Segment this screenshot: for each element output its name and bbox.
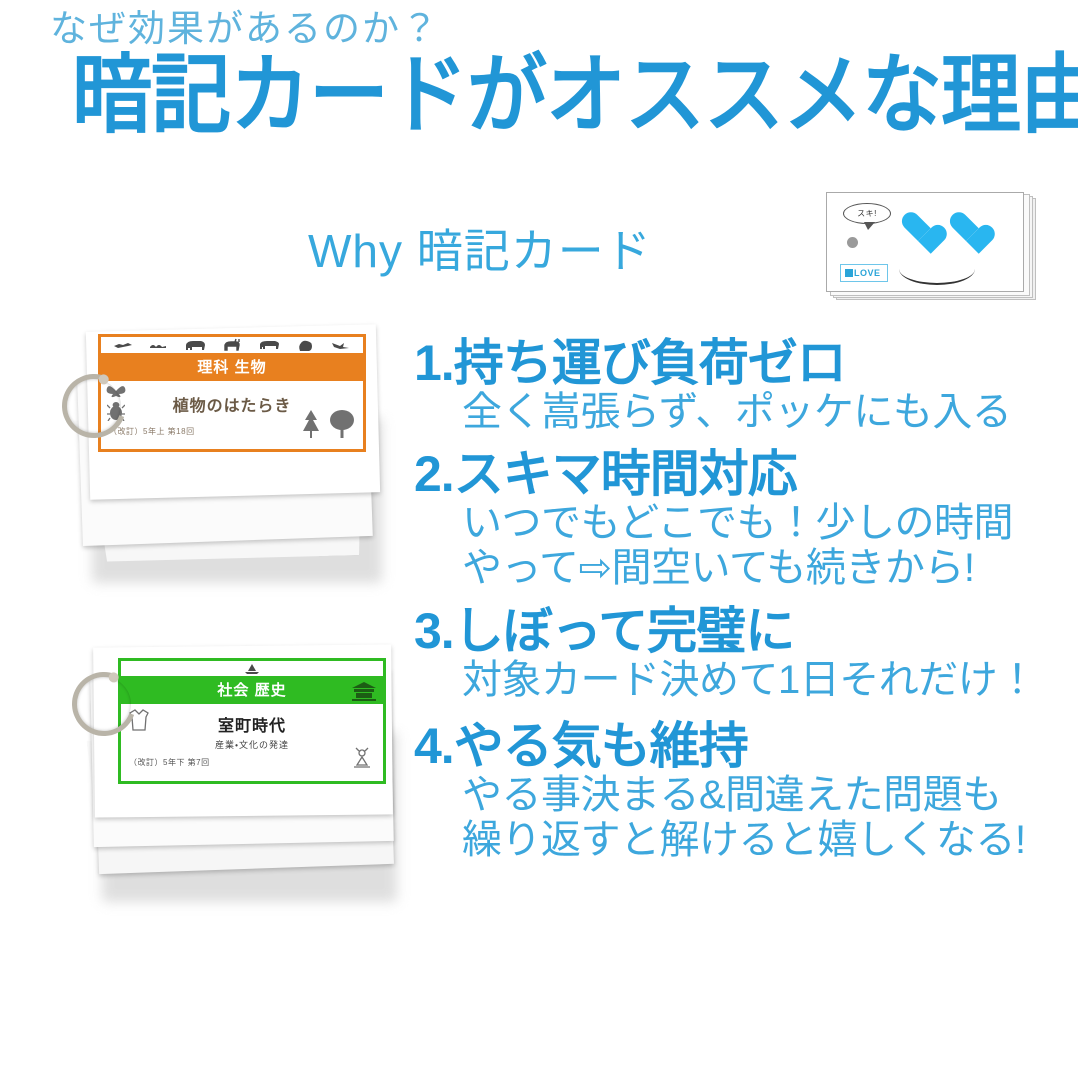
ship-icon [243, 663, 261, 675]
social-band-label: 社会 歴史 [217, 682, 286, 699]
social-card-face: 社会 歴史 室町時代 産業・文化の発達 （改訂）5年下 第7回 [118, 658, 386, 784]
speech-bubble: スキ! [843, 203, 891, 224]
illus-front-card: スキ! LOVE [826, 192, 1024, 292]
page-title: 暗記カードがオススメな理由 [72, 52, 1078, 138]
social-card-subtitle: 産業・文化の発達 [121, 738, 383, 751]
dot-icon [847, 237, 858, 248]
social-card-title: 室町時代 [121, 704, 383, 736]
reason-item-1: 1.持ち運び負荷ゼロ 全く嵩張らず、ポッケにも入る [414, 336, 1034, 435]
pine-tree-icon [301, 409, 321, 439]
why-label: Why 暗記カード [308, 228, 652, 274]
reason-3-subtitle: 対象カード決めて1日それだけ！ [414, 658, 1034, 703]
bear-icon [184, 339, 206, 352]
reason-item-4: 4.やる気も維持 やる事決まる&間違えた問題も 繰り返すと解けると嬉しくなる! [414, 719, 1034, 863]
social-card-body: 室町時代 産業・文化の発達 （改訂）5年下 第7回 [121, 704, 383, 772]
seated-person-icon [351, 746, 373, 770]
heart-eye-right-icon [949, 213, 983, 243]
smiley-card-illustration: スキ! LOVE [826, 192, 1062, 324]
poster-canvas: なぜ効果があるのか？ 暗記カードがオススメな理由 Why 暗記カード 理科 生物 [0, 0, 1078, 1080]
science-card-title: 植物のはたらき [101, 381, 363, 416]
reason-3-sub-line-1: 対象カード決めて1日それだけ！ [462, 658, 1034, 703]
reason-item-3: 3.しぼって完璧に 対象カード決めて1日それだけ！ [414, 604, 1034, 703]
love-badge: LOVE [840, 264, 888, 282]
social-top-strip [121, 661, 383, 678]
reason-2-title: 2.スキマ時間対応 [414, 447, 1034, 501]
gorilla-icon [297, 339, 315, 352]
social-card-footer: （改訂）5年下 第7回 [129, 757, 210, 768]
science-card-band: 理科 生物 [101, 355, 363, 381]
reason-4-sub-line-2: 繰り返すと解けると嬉しくなる! [462, 818, 1034, 863]
science-card-face: 理科 生物 植物のはたらき （改訂）5年上 第18回 [98, 334, 366, 452]
reason-4-subtitle: やる事決まる&間違えた問題も 繰り返すと解けると嬉しくなる! [414, 773, 1034, 863]
lizard-icon [113, 340, 133, 350]
reason-2-sub-line-2: やって⇨間空いても続きから! [462, 546, 1034, 591]
reason-4-title: 4.やる気も維持 [414, 719, 1034, 773]
caterpillar-icon [149, 340, 167, 350]
temple-icon [351, 681, 377, 701]
science-card-footer: （改訂）5年上 第18回 [109, 426, 195, 437]
reason-2-subtitle: いつでもどこでも！少しの時間 やって⇨間空いても続きから! [414, 501, 1034, 591]
science-animal-strip [101, 337, 363, 355]
reason-1-subtitle: 全く嵩張らず、ポッケにも入る [414, 390, 1034, 435]
flashcard-stack-science: 理科 生物 植物のはたらき （改訂）5年上 第18回 [66, 322, 406, 602]
kicker-text: なぜ効果があるのか？ [50, 10, 440, 47]
broadleaf-tree-icon [329, 409, 355, 439]
heart-eye-left-icon [901, 213, 935, 243]
reason-3-title: 3.しぼって完璧に [414, 604, 1034, 658]
science-card-body: 植物のはたらき （改訂）5年上 第18回 [101, 381, 363, 441]
reason-1-sub-line-1: 全く嵩張らず、ポッケにも入る [462, 390, 1034, 435]
smile-icon [899, 253, 975, 285]
bird-icon [331, 341, 351, 350]
flashcard-stack-social: 社会 歴史 室町時代 産業・文化の発達 （改訂）5年下 第7回 [80, 632, 425, 922]
love-badge-label: LOVE [854, 268, 881, 278]
reason-item-2: 2.スキマ時間対応 いつでもどこでも！少しの時間 やって⇨間空いても続きから! [414, 447, 1034, 591]
social-card-band: 社会 歴史 [121, 678, 383, 704]
badge-square-icon [845, 269, 853, 277]
reason-1-title: 1.持ち運び負荷ゼロ [414, 336, 1034, 390]
deer-icon [222, 338, 242, 352]
reason-2-sub-line-1: いつでもどこでも！少しの時間 [462, 501, 1034, 546]
tiger-icon [258, 339, 280, 351]
reason-4-sub-line-1: やる事決まる&間違えた問題も [462, 773, 1034, 818]
reason-list: 1.持ち運び負荷ゼロ 全く嵩張らず、ポッケにも入る 2.スキマ時間対応 いつでも… [414, 336, 1034, 873]
